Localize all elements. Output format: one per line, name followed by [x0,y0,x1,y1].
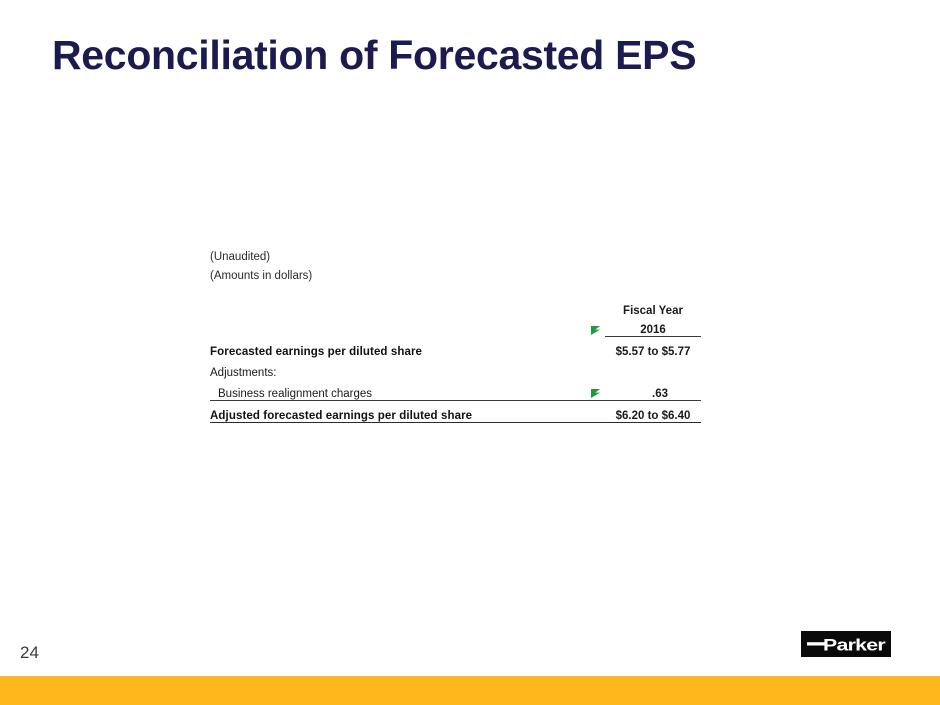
footnote-marker-cell-year [591,317,605,337]
svg-text:Parker: Parker [823,636,886,655]
row-label-adjustments: Adjustments: [210,358,591,379]
header-spacer-label-2 [210,317,591,337]
header-fiscal-year: Fiscal Year [605,297,701,317]
table-row: Business realignment charges .63 [210,379,701,401]
note-amounts: (Amounts in dollars) [210,267,701,286]
table-header-row-2: 2016 [210,317,701,337]
row-marker-cell-0 [591,337,605,359]
table-row: Adjustments: [210,358,701,379]
slide-canvas: Reconciliation of Forecasted EPS (Unaudi… [0,0,940,705]
green-flag-icon [591,389,600,398]
row-marker-cell-3 [591,401,605,423]
header-spacer-label [210,297,591,317]
header-marker-cell-1 [591,297,605,317]
eps-reconciliation-table: Fiscal Year 2016 F [210,297,701,423]
row-label-business-realignment-charges: Business realignment charges [210,379,591,401]
green-flag-icon [591,326,600,335]
financial-table-block: (Unaudited) (Amounts in dollars) Fiscal … [210,248,701,423]
row-value-adjustments [605,358,701,379]
row-value-forecasted-eps: $5.57 to $5.77 [605,337,701,359]
row-label-forecasted-eps: Forecasted earnings per diluted share [210,337,591,359]
row-label-adjusted-forecasted-eps: Adjusted forecasted earnings per diluted… [210,401,591,423]
bottom-accent-bar [0,676,940,705]
header-fiscal-year-value: 2016 [605,317,701,337]
row-value-business-realignment-charges: .63 [605,379,701,401]
page-title: Reconciliation of Forecasted EPS [52,33,696,78]
note-unaudited: (Unaudited) [210,248,701,267]
row-value-adjusted-forecasted-eps: $6.20 to $6.40 [605,401,701,423]
page-number: 24 [20,643,39,663]
parker-logo: Parker [801,631,891,657]
table-row: Forecasted earnings per diluted share $5… [210,337,701,359]
table-row-total: Adjusted forecasted earnings per diluted… [210,401,701,423]
table-header-row-1: Fiscal Year [210,297,701,317]
row-marker-cell-1 [591,358,605,379]
footnote-marker-cell-realignment [591,379,605,401]
